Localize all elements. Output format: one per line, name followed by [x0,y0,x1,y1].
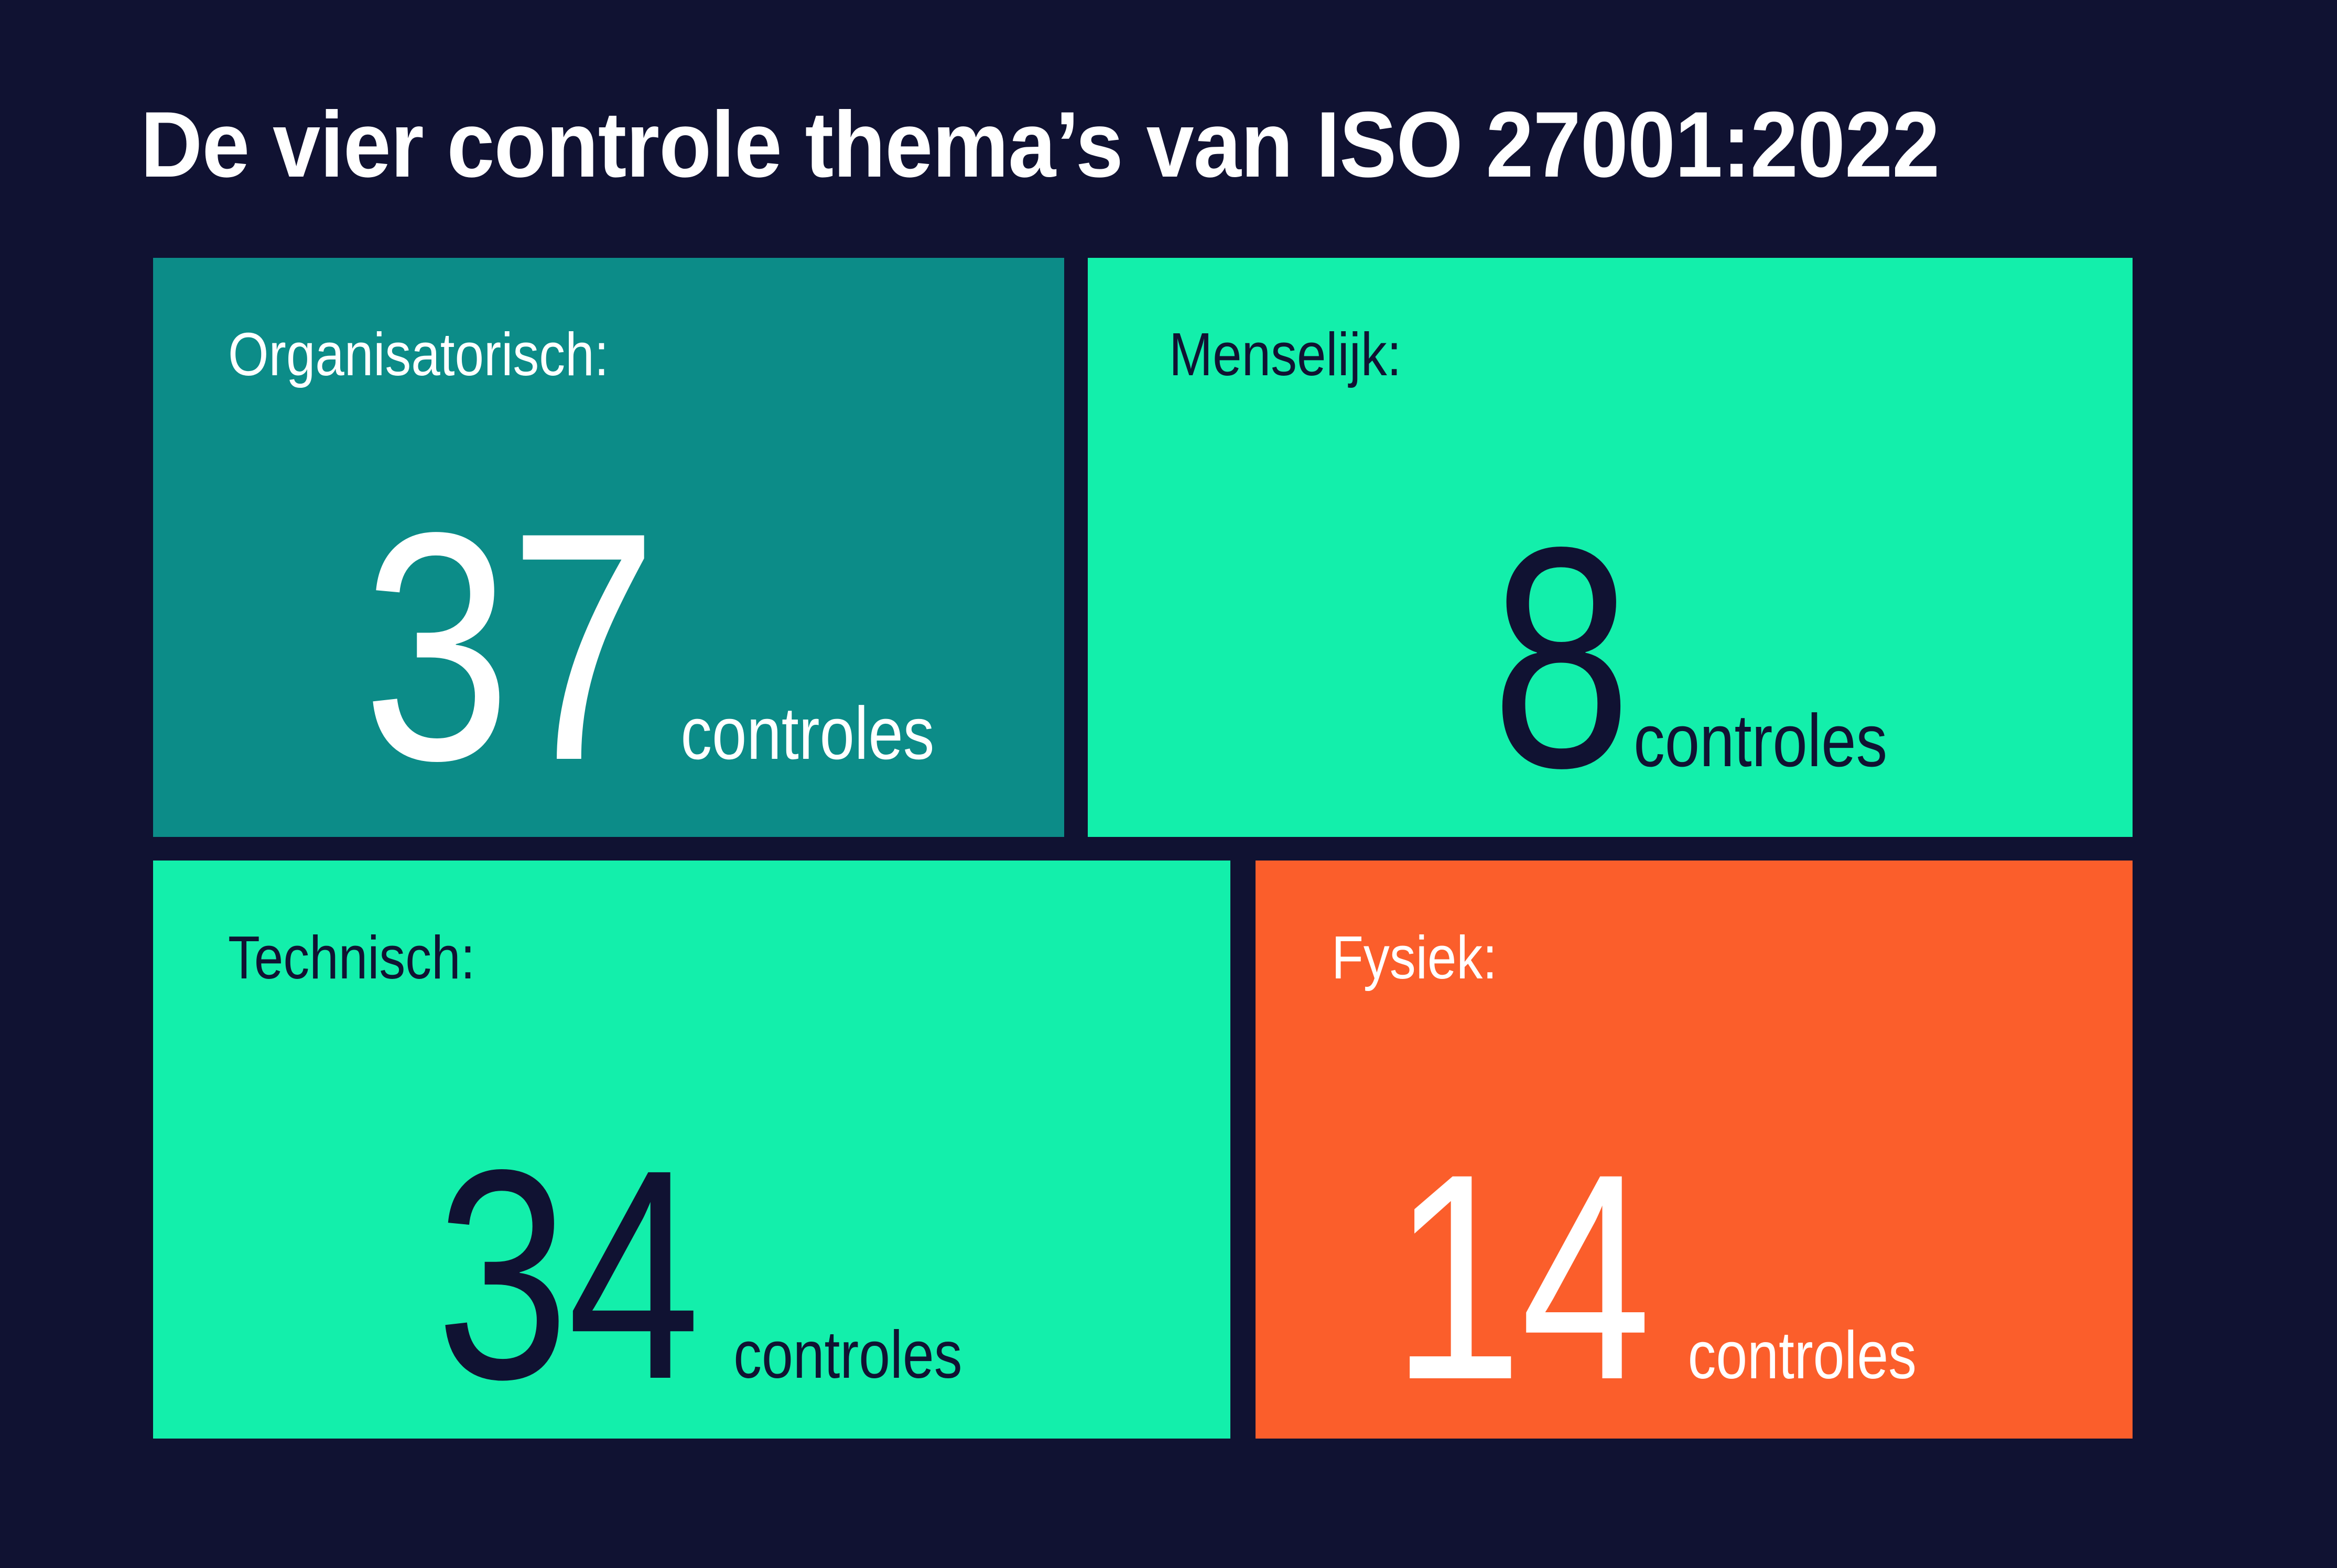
card-label-technisch: Technisch: [228,922,475,993]
stat-card-fysiek: Fysiek: 14 controles [1256,861,2133,1439]
metric-unit-fysiek: controles [1687,1322,1916,1389]
metric-number-organisatorisch: 37 [363,520,656,774]
card-label-menselijk: Menselijk: [1169,319,1402,389]
stat-card-technisch: Technisch: 34 controles [153,861,1230,1439]
card-label-fysiek: Fysiek: [1332,922,1497,993]
stat-card-menselijk: Menselijk: 8 controles [1088,258,2133,837]
metric-row-technisch: 34 controles [436,1158,1036,1391]
metric-number-fysiek: 14 [1392,1162,1650,1391]
metric-row-menselijk: 8 controles [1491,535,1966,780]
metric-unit-technisch: controles [733,1322,962,1389]
page-title: De vier controle thema’s van ISO 27001:2… [140,92,2021,197]
card-label-organisatorisch: Organisatorisch: [228,319,609,389]
metric-number-menselijk: 8 [1491,535,1630,780]
infographic-root: De vier controle thema’s van ISO 27001:2… [0,0,2337,1568]
stat-card-organisatorisch: Organisatorisch: 37 controles [153,258,1064,837]
metric-unit-menselijk: controles [1633,704,1887,778]
metric-number-technisch: 34 [436,1158,699,1391]
metric-unit-organisatorisch: controles [680,696,934,771]
metric-row-fysiek: 14 controles [1392,1162,1986,1391]
metric-row-organisatorisch: 37 controles [363,520,1022,774]
